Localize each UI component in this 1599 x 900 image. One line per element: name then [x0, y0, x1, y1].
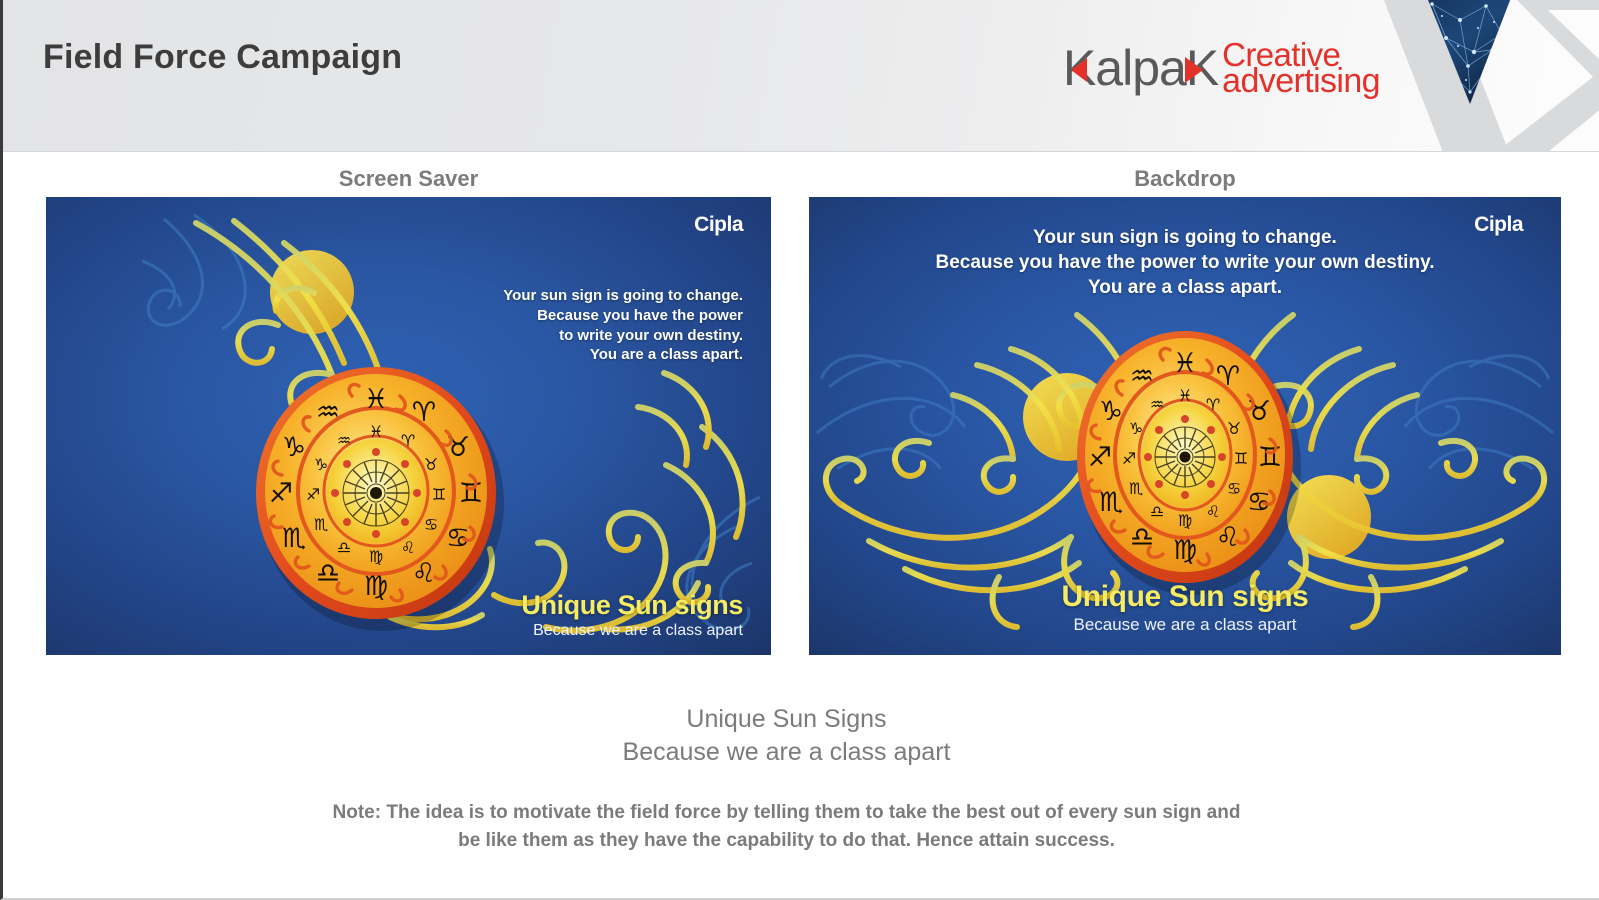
- tagline-main-screen-saver: Unique Sun signs: [521, 590, 743, 621]
- svg-text:♐: ♐: [306, 485, 320, 504]
- logo-right-triangle-icon: [1185, 57, 1203, 83]
- headline-line: Because you have the power: [323, 306, 743, 326]
- svg-text:♑: ♑: [282, 432, 306, 463]
- svg-text:♉: ♉: [424, 455, 438, 474]
- poster-headline-screen-saver: Your sun sign is going to change.Because…: [323, 286, 743, 365]
- logo-tagline-line2: advertising: [1222, 68, 1380, 96]
- headline-line: Because you have the power to write your…: [809, 250, 1561, 275]
- svg-text:♓: ♓: [1178, 386, 1192, 405]
- svg-text:♋: ♋: [1227, 479, 1241, 498]
- headline-line: Your sun sign is going to change.: [809, 225, 1561, 250]
- logo-tagline: Creative advertising: [1222, 41, 1380, 96]
- poster-headline-backdrop: Your sun sign is going to change.Because…: [809, 225, 1561, 300]
- header-geometric-decoration-icon: [1362, 0, 1599, 152]
- headline-line: You are a class apart.: [809, 275, 1561, 300]
- svg-text:♍: ♍: [1173, 535, 1197, 566]
- poster-screen-saver[interactable]: ♓ ♈ ♉ ♊ ♋ ♌ ♍ ♎ ♏ ♐ ♑ ♒ ♓ ♈ ♉: [46, 197, 771, 655]
- tagline-main-backdrop: Unique Sun signs: [809, 580, 1561, 614]
- logo-wordmark: KalpaK: [1063, 40, 1218, 96]
- svg-text:♒: ♒: [316, 397, 340, 428]
- svg-text:♈: ♈: [1206, 395, 1220, 414]
- poster-tagline-backdrop: Unique Sun signs Because we are a class …: [809, 580, 1561, 635]
- page-title: Field Force Campaign: [43, 38, 402, 77]
- svg-text:♏: ♏: [282, 523, 306, 554]
- svg-text:♏: ♏: [1099, 487, 1123, 518]
- svg-text:♈: ♈: [412, 397, 436, 428]
- svg-text:♊: ♊: [459, 478, 483, 509]
- svg-text:♐: ♐: [1088, 442, 1112, 473]
- logo-left-triangle-icon: [1071, 58, 1087, 82]
- panel-label-backdrop: Backdrop: [809, 166, 1561, 192]
- svg-text:♌: ♌: [401, 538, 415, 557]
- svg-text:♋: ♋: [424, 515, 438, 534]
- svg-text:♈: ♈: [1216, 361, 1240, 392]
- svg-text:♍: ♍: [364, 571, 388, 602]
- screen-saver-artwork: ♓ ♈ ♉ ♊ ♋ ♌ ♍ ♎ ♏ ♐ ♑ ♒ ♓ ♈ ♉: [46, 197, 771, 655]
- caption-title-line2: Because we are a class apart: [3, 736, 1570, 769]
- svg-text:♎: ♎: [1150, 502, 1164, 521]
- cipla-logo-screen-saver: Cipla: [694, 213, 743, 237]
- svg-text:♉: ♉: [1247, 396, 1271, 427]
- headline-line: Your sun sign is going to change.: [323, 286, 743, 306]
- headline-line: You are a class apart.: [323, 345, 743, 365]
- svg-text:♊: ♊: [1258, 442, 1282, 473]
- tagline-sub-backdrop: Because we are a class apart: [809, 615, 1561, 635]
- svg-text:♊: ♊: [1234, 449, 1248, 468]
- svg-text:♏: ♏: [314, 515, 328, 534]
- poster-tagline-screen-saver: Unique Sun signs Because we are a class …: [521, 590, 743, 640]
- svg-text:♑: ♑: [1099, 396, 1123, 427]
- svg-text:♒: ♒: [1150, 395, 1164, 414]
- svg-text:♑: ♑: [314, 455, 328, 474]
- svg-text:♎: ♎: [337, 538, 351, 557]
- caption-note-line1: Note: The idea is to motivate the field …: [3, 799, 1570, 827]
- svg-text:♍: ♍: [369, 547, 383, 566]
- kalpak-logo: KalpaK Creative advertising: [1063, 36, 1380, 100]
- svg-text:♏: ♏: [1129, 479, 1143, 498]
- svg-text:♐: ♐: [1122, 449, 1136, 468]
- svg-text:♐: ♐: [269, 478, 293, 509]
- svg-text:♌: ♌: [412, 558, 436, 589]
- svg-text:♉: ♉: [1227, 419, 1241, 438]
- svg-text:♊: ♊: [432, 485, 446, 504]
- poster-backdrop[interactable]: ♓ ♈ ♉ ♊ ♋ ♌ ♍ ♎ ♏ ♐ ♑ ♒ ♓ ♈ ♉ ♊: [809, 197, 1561, 655]
- svg-text:♒: ♒: [337, 431, 351, 450]
- svg-text:♍: ♍: [1178, 511, 1192, 530]
- tagline-sub-screen-saver: Because we are a class apart: [521, 622, 743, 640]
- slide: Field Force Campaign KalpaK Creative adv…: [0, 0, 1599, 900]
- slide-header: Field Force Campaign KalpaK Creative adv…: [3, 0, 1599, 152]
- svg-text:♓: ♓: [1173, 348, 1197, 379]
- caption-title-line1: Unique Sun Signs: [3, 703, 1570, 736]
- headline-line: to write your own destiny.: [323, 326, 743, 346]
- svg-text:♒: ♒: [1130, 361, 1154, 392]
- svg-text:♌: ♌: [1216, 522, 1240, 553]
- svg-text:♓: ♓: [364, 384, 388, 415]
- caption-note: Note: The idea is to motivate the field …: [3, 799, 1570, 855]
- caption-title: Unique Sun Signs Because we are a class …: [3, 703, 1570, 769]
- svg-text:♌: ♌: [1206, 502, 1220, 521]
- panel-label-screen-saver: Screen Saver: [46, 166, 771, 192]
- svg-text:♓: ♓: [369, 422, 383, 441]
- svg-text:♈: ♈: [401, 431, 415, 450]
- svg-text:♋: ♋: [1247, 487, 1271, 518]
- caption-note-line2: be like them as they have the capability…: [3, 827, 1570, 855]
- svg-text:♑: ♑: [1129, 419, 1143, 438]
